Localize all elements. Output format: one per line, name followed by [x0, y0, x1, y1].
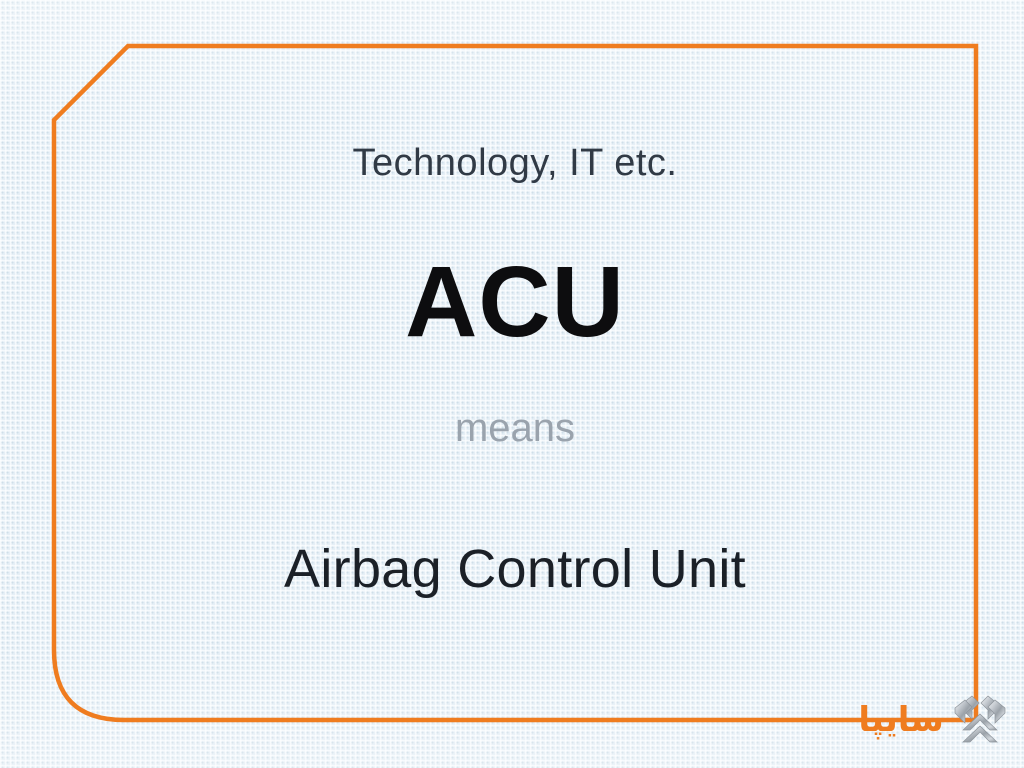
- category-label: Technology, IT etc.: [52, 144, 978, 182]
- slide-canvas: Technology, IT etc. ACU means Airbag Con…: [0, 0, 1024, 768]
- means-connector-label: means: [52, 408, 978, 448]
- acronym-expansion: Airbag Control Unit: [52, 542, 978, 596]
- saipa-wordmark: سایپا: [858, 703, 944, 737]
- slide-content: Technology, IT etc. ACU means Airbag Con…: [52, 44, 978, 722]
- brand-lockup: سایپا: [858, 694, 1008, 746]
- acronym-title: ACU: [52, 252, 978, 352]
- saipa-chevron-logo-icon: [952, 694, 1008, 746]
